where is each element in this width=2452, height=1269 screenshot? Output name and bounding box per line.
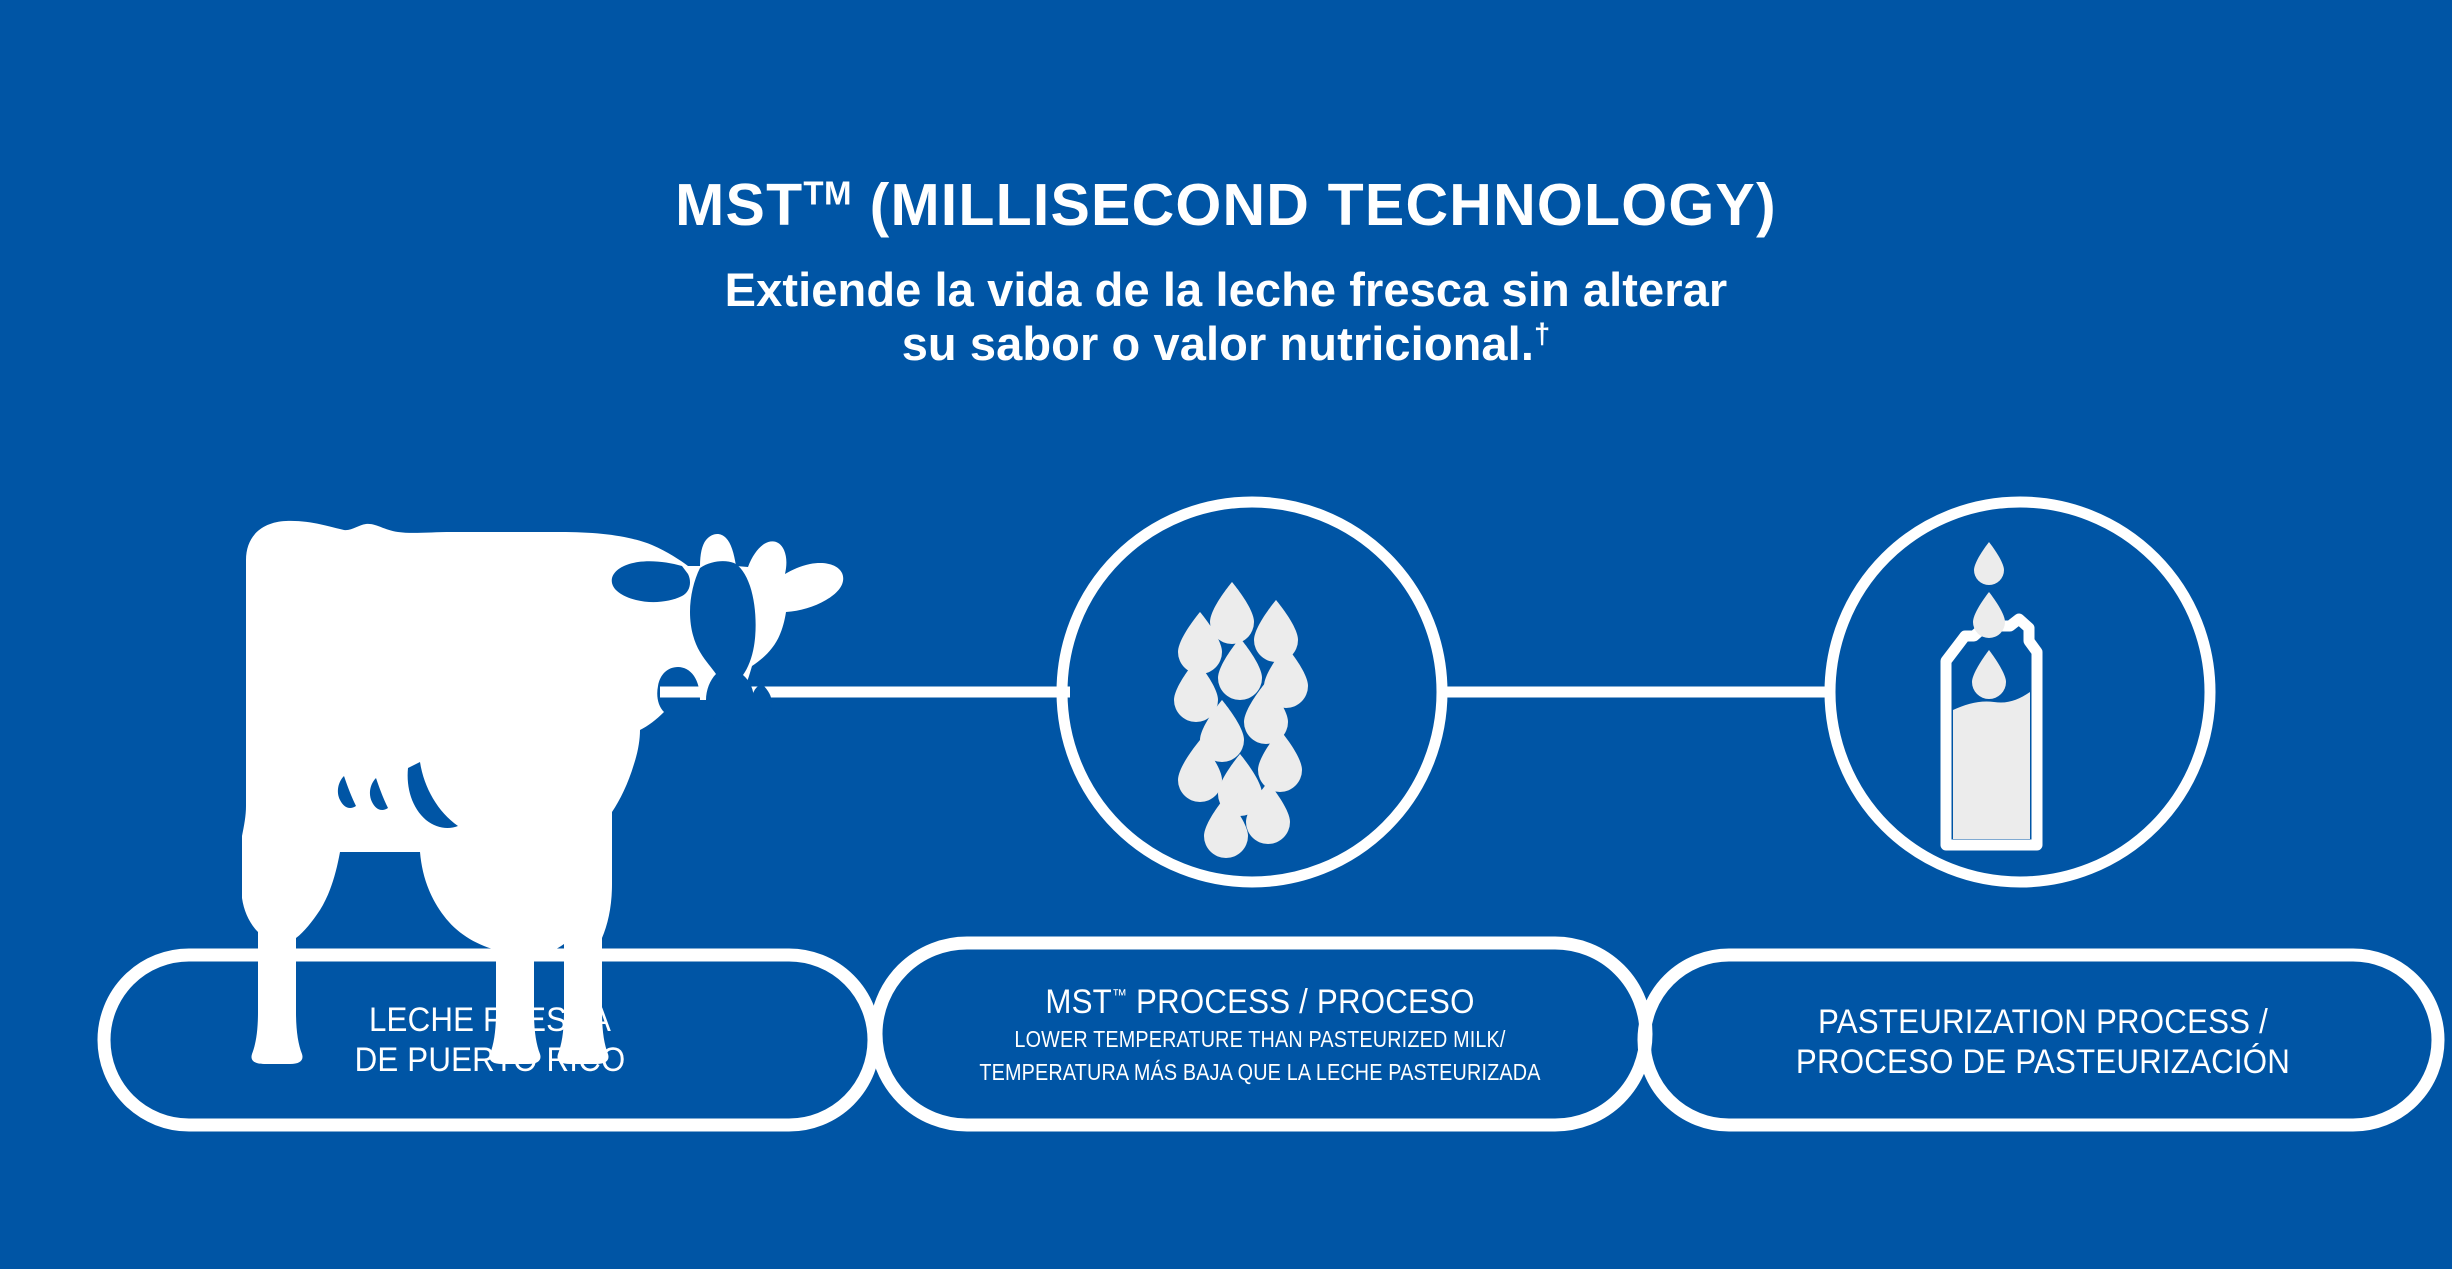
milk-carton-icon [1946, 618, 2037, 845]
milk-drops-icon [1174, 582, 1308, 858]
step-label-mst-process: MST™ PROCESS / PROCESO LOWER TEMPERATURE… [880, 982, 1640, 1088]
sublabel-line-2: TEMPERATURA MÁS BAJA QUE LA LECHE PASTEU… [933, 1058, 1587, 1088]
page-title: MSTTM (MILLISECOND TECHNOLOGY) [0, 0, 2452, 235]
title-main: MST [675, 172, 803, 238]
infographic-canvas: MSTTM (MILLISECOND TECHNOLOGY) Extiende … [0, 0, 2452, 1269]
label-trademark: ™ [1112, 987, 1127, 1005]
label-line-1: LECHE FRESCA [140, 1000, 839, 1040]
label-line-2: PROCESO DE PASTEURIZACIÓN [1680, 1042, 2407, 1082]
title-rest: (MILLISECOND TECHNOLOGY) [852, 172, 1777, 238]
page-subtitle: Extiende la vida de la leche fresca sin … [0, 235, 2452, 370]
cow-icon [242, 521, 843, 1064]
sublabel-line-1: LOWER TEMPERATURE THAN PASTEURIZED MILK/ [933, 1025, 1587, 1055]
cow-udder-gaps [338, 776, 388, 810]
cow-head-marking [690, 561, 756, 724]
header-block: MSTTM (MILLISECOND TECHNOLOGY) Extiende … [0, 0, 2452, 370]
cow-belly-gap [408, 762, 458, 828]
subtitle-line-2: su sabor o valor nutricional. [902, 317, 1534, 370]
pasteurization-icon-circle [1830, 502, 2210, 882]
step-label-fresh-milk: LECHE FRESCA DE PUERTO RICO [110, 1000, 870, 1080]
circle-outline-2 [1062, 502, 1442, 882]
trademark-superscript: TM [803, 175, 852, 212]
label-line-1: PASTEURIZATION PROCESS / [1680, 1002, 2407, 1042]
cow-ear-shadow [612, 561, 690, 602]
subtitle-line-1: Extiende la vida de la leche fresca sin … [725, 263, 1728, 316]
circle-outline-3 [1830, 502, 2210, 882]
label-line-2: DE PUERTO RICO [140, 1040, 839, 1080]
footnote-dagger: † [1534, 318, 1550, 350]
step-label-pasteurization: PASTEURIZATION PROCESS / PROCESO DE PAST… [1648, 1002, 2438, 1082]
label-main-line: MST™ PROCESS / PROCESO [910, 982, 1609, 1022]
mst-process-icon-circle [1062, 502, 1442, 882]
carton-milk-fill [1953, 692, 2030, 839]
cow-muzzle-shadow [752, 684, 772, 726]
label-process: PROCESS / PROCESO [1127, 983, 1474, 1021]
label-mst: MST [1045, 983, 1112, 1021]
carton-drops-icon [1972, 542, 2006, 699]
